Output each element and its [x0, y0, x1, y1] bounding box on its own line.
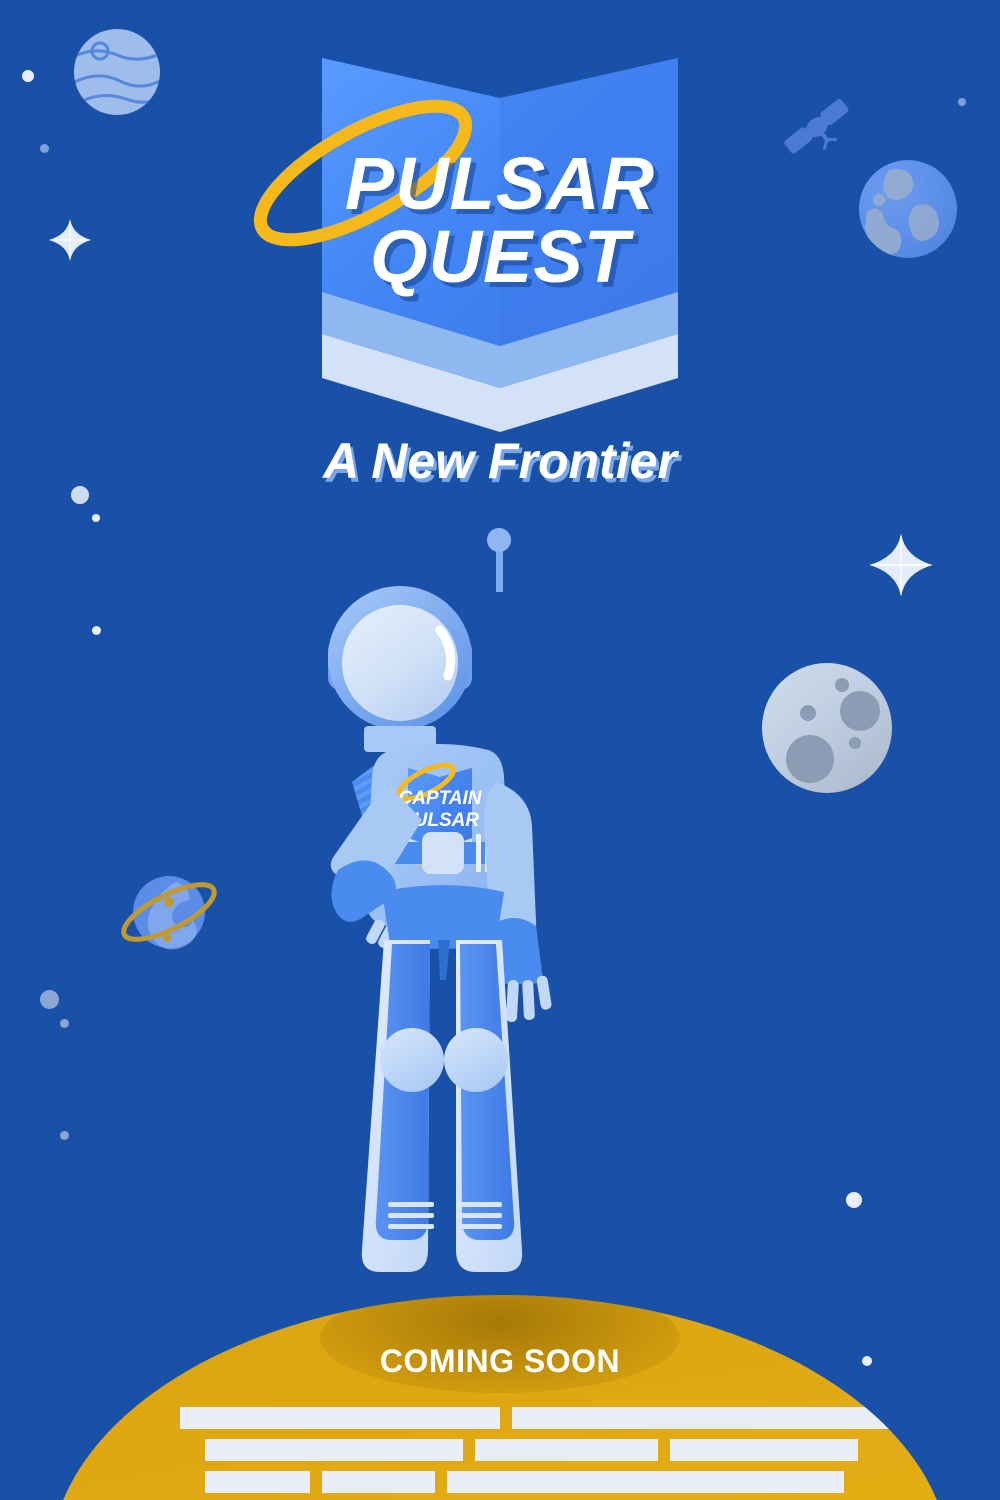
helmet-visor — [342, 605, 458, 721]
placeholder-bar — [512, 1407, 950, 1429]
placeholder-bar — [670, 1439, 858, 1461]
placeholder-bar — [205, 1439, 463, 1461]
astronaut-figure: CAPTAIN PULSAR — [300, 520, 700, 1320]
knee-pad-left — [380, 1028, 444, 1092]
coming-soon-label: COMING SOON — [50, 1343, 950, 1380]
placeholder-bar — [205, 1471, 310, 1493]
placeholder-bar — [180, 1407, 500, 1429]
placeholder-bar — [447, 1471, 844, 1493]
placeholder-bar — [475, 1439, 658, 1461]
ringed-planet — [117, 858, 221, 962]
belt-buckle — [422, 832, 464, 874]
subtitle-text: A New Frontier — [0, 432, 1000, 490]
placeholder-bar — [322, 1471, 435, 1493]
helmet — [328, 586, 472, 752]
star-dot — [92, 626, 101, 635]
gray-moon — [762, 663, 892, 793]
chest-badge-line1: CAPTAIN — [398, 788, 482, 809]
poster-canvas: PULSAR QUEST A New Frontier COMING SOON — [0, 0, 1000, 1500]
logo-title: PULSAR QUEST — [0, 148, 1000, 293]
boot-stripes-left — [388, 1202, 434, 1229]
star-dot — [40, 990, 59, 1009]
star-dot — [92, 514, 100, 522]
boot-stripes-right — [456, 1202, 502, 1229]
star-dot — [60, 1019, 69, 1028]
logo-lockup: PULSAR QUEST — [0, 40, 1000, 430]
knee-pad-right — [444, 1028, 508, 1092]
crotch-seam — [438, 940, 450, 980]
leg-left — [362, 940, 444, 1272]
sparkle-star-icon — [868, 532, 934, 598]
hips — [382, 885, 504, 949]
logo-title-line1: PULSAR — [0, 148, 1000, 221]
helmet-antenna — [487, 528, 511, 592]
star-dot — [60, 1131, 69, 1140]
logo-title-line2: QUEST — [0, 221, 1000, 294]
star-dot — [846, 1192, 862, 1208]
gray-moon-craters — [762, 663, 892, 793]
planet-surface: COMING SOON — [50, 1295, 950, 1500]
